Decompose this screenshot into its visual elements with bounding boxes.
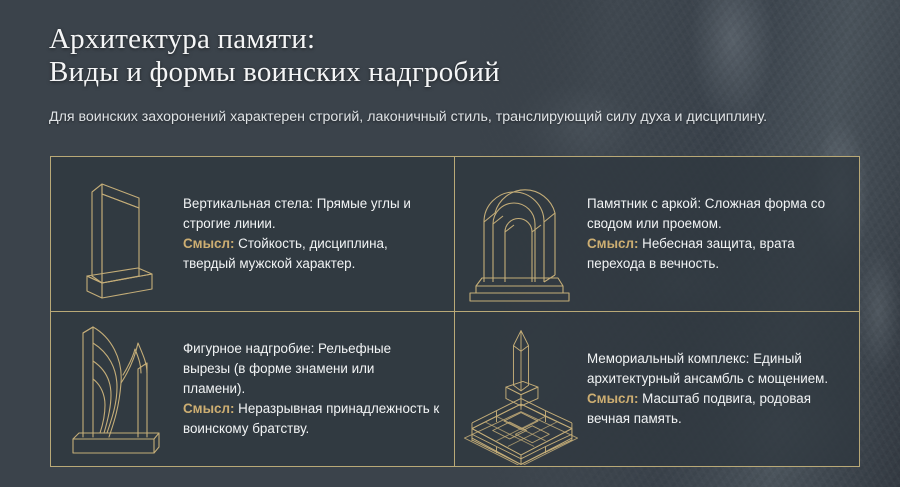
cell-text: Памятник с аркой: Сложная форма со сводо… bbox=[587, 194, 853, 274]
cell-description: Вертикальная стела: Прямые углы и строги… bbox=[183, 194, 440, 234]
page-subtitle: Для воинских захоронений характерен стро… bbox=[49, 107, 779, 128]
monument-types-table: Вертикальная стела: Прямые углы и строги… bbox=[50, 156, 860, 467]
meaning-label: Смысл: bbox=[183, 401, 238, 416]
cell-text: Вертикальная стела: Прямые углы и строги… bbox=[183, 194, 448, 274]
title-line-2: Виды и формы воинских надгробий bbox=[49, 56, 709, 89]
vertical-stele-icon bbox=[51, 160, 183, 308]
cell-description: Фигурное надгробие: Рельефные вырезы (в … bbox=[183, 339, 440, 399]
cell-description: Мемориальный комплекс: Единый архитектур… bbox=[587, 349, 845, 389]
meaning-label: Смысл: bbox=[587, 391, 642, 406]
arch-monument-icon bbox=[455, 160, 587, 308]
cell-text: Мемориальный комплекс: Единый архитектур… bbox=[587, 349, 853, 429]
cell-description: Памятник с аркой: Сложная форма со сводо… bbox=[587, 194, 845, 234]
title-line-1: Архитектура памяти: bbox=[49, 23, 315, 55]
meaning-label: Смысл: bbox=[183, 236, 238, 251]
page-title: Архитектура памяти: Виды и формы воински… bbox=[49, 23, 709, 89]
meaning-label: Смысл: bbox=[587, 236, 642, 251]
table-cell-vertical-stele: Вертикальная стела: Прямые углы и строги… bbox=[51, 157, 455, 312]
figured-flame-headstone-icon bbox=[51, 313, 183, 465]
table-cell-figured-headstone: Фигурное надгробие: Рельефные вырезы (в … bbox=[51, 312, 455, 467]
cell-text: Фигурное надгробие: Рельефные вырезы (в … bbox=[183, 339, 448, 439]
table-cell-memorial-complex: Мемориальный комплекс: Единый архитектур… bbox=[455, 312, 859, 467]
slide: Архитектура памяти: Виды и формы воински… bbox=[0, 0, 900, 487]
table-cell-arch-monument: Памятник с аркой: Сложная форма со сводо… bbox=[455, 157, 859, 312]
memorial-complex-obelisk-icon bbox=[455, 313, 587, 465]
